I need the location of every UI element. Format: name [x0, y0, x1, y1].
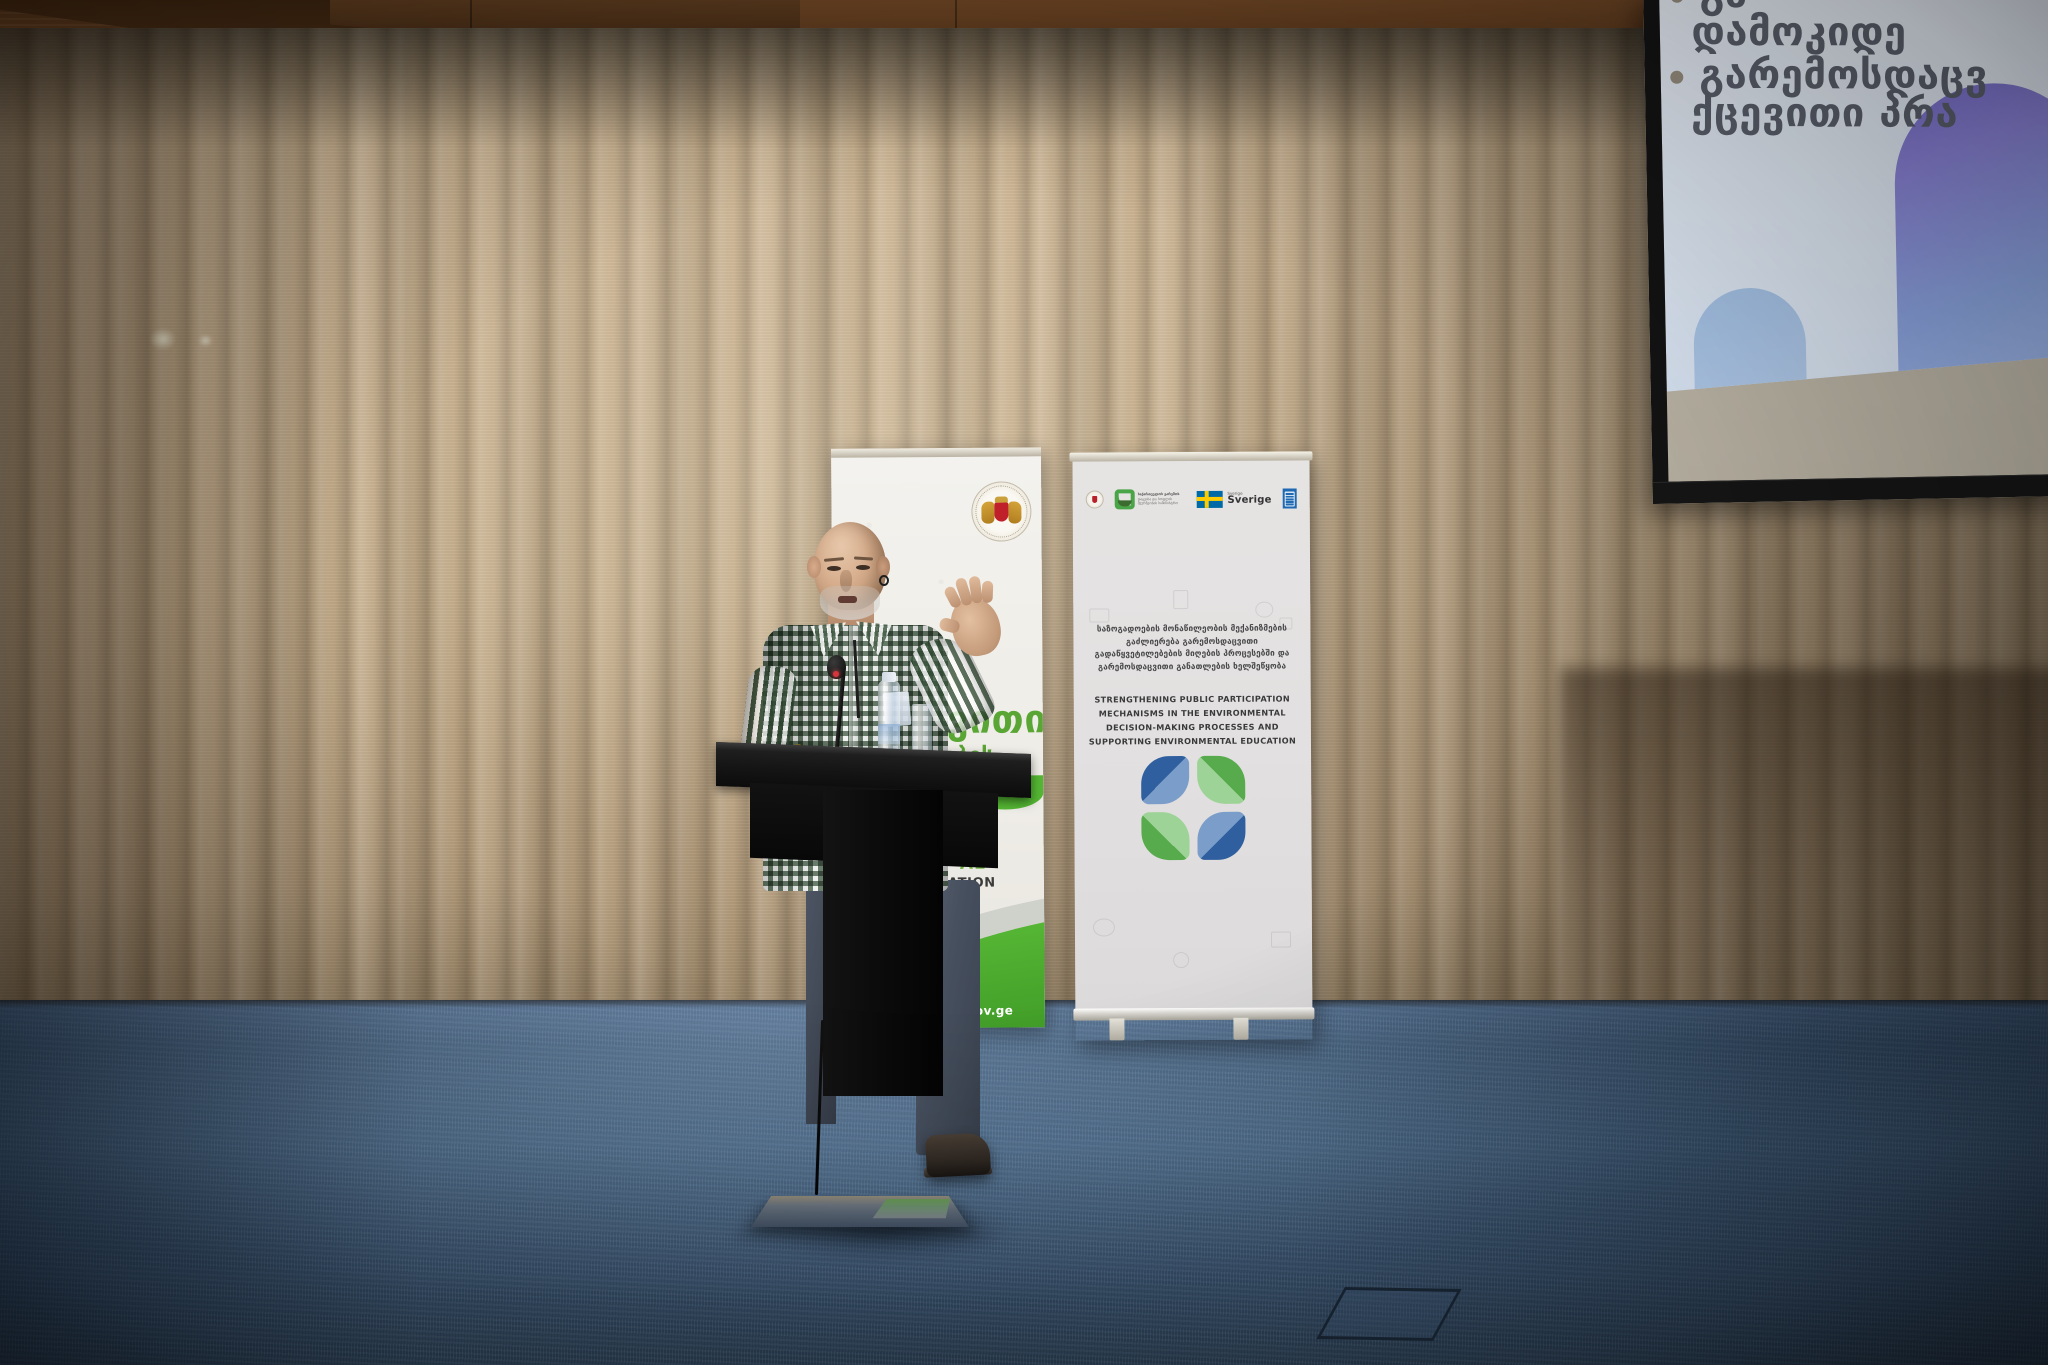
earring-icon: [879, 575, 889, 586]
drinking-glass: [912, 704, 932, 756]
slide-bullet-text: გარემოსდაცვქცევითი პრა: [1699, 56, 1988, 134]
seal-lion-right-icon: [1008, 501, 1021, 523]
slide-bullet-text: გადამოკიდე: [1699, 0, 1906, 52]
blue-patterned-carpet: [0, 1000, 2048, 1365]
base-banner-reflection: [873, 1199, 950, 1218]
presenter-ear-left: [807, 556, 821, 578]
four-petal-blue-green-logo: [1141, 756, 1246, 861]
banner-project-top-rail: [1069, 451, 1312, 461]
slide-bullet-item: გარემოსდაცვქცევითი პრა: [1670, 56, 2048, 134]
banner-logo-strip: საქართველოს გარემოს დაცვისა და სოფლის მე…: [1073, 481, 1310, 516]
slide-bullet-list: გადამოკიდე გარემოსდაცვქცევითი პრა: [1670, 0, 2048, 138]
logo-petal-top-left: [1141, 756, 1189, 804]
banner-foot-left: [1109, 1018, 1124, 1040]
water-bottle-label: [878, 724, 900, 744]
water-bottle-cap: [882, 672, 896, 682]
georgia-coat-of-arms-seal: [971, 481, 1031, 541]
ministry-leaf-icon: [1115, 489, 1135, 509]
logo-petal-top-right: [1197, 756, 1245, 804]
group-icon: [1093, 918, 1115, 936]
projected-slide: გადამოკიდე გარემოსდაცვქცევითი პრა: [1659, 0, 2048, 392]
lectern-column: [823, 790, 943, 1096]
banner-foot-right: [1233, 1018, 1248, 1040]
banner-project-rollup: საქართველოს გარემოს დაცვისა და სოფლის მე…: [1072, 451, 1312, 1040]
logo-petal-bottom-right: [1197, 812, 1245, 860]
swedish-flag-icon: [1196, 490, 1222, 507]
ministry-logo-text: საქართველოს გარემოს დაცვისა და სოფლის მე…: [1138, 492, 1186, 506]
slide-bullet-item: გადამოკიდე: [1670, 0, 2048, 53]
presenter-icon: [1271, 931, 1291, 947]
microphone-led-indicator: [833, 671, 839, 677]
sweden-flag-logo: Sverige Sverige: [1196, 490, 1271, 507]
bullet-dot-icon: [1670, 71, 1683, 84]
georgia-state-emblem-logo: [1086, 490, 1104, 508]
conference-hall-photo: გადამოკიდე გარემოსდაცვქცევითი პრა: [0, 0, 2048, 1365]
banner-project-body: საქართველოს გარემოს დაცვისა და სოფლის მე…: [1073, 459, 1313, 1012]
banner-project-title-georgian: საზოგადოების მონაწილეობის მექანიზმების გ…: [1081, 621, 1302, 673]
laptop-icon: [1089, 608, 1109, 622]
presenter-goatee: [820, 586, 880, 620]
undp-logo: [1282, 488, 1296, 508]
slide-arch-small-blue: [1693, 287, 1808, 392]
left-wall-shadow: [0, 28, 360, 1038]
seal-lion-left-icon: [981, 502, 994, 524]
banner-project-title-english: STRENGTHENING PUBLIC PARTICIPATION MECHA…: [1080, 691, 1305, 749]
finger-4: [982, 581, 994, 603]
presenter-eye-right: [856, 565, 870, 570]
presenter-shoe: [925, 1132, 991, 1177]
projection-screen: გადამოკიდე გარემოსდაცვქცევითი პრა: [1643, 0, 2048, 504]
document-icon: [1173, 590, 1188, 609]
carpet-shadow-left: [0, 1000, 420, 1365]
plant-icon: [1173, 952, 1189, 968]
logo-petal-bottom-left: [1141, 812, 1189, 860]
sweden-logo-text: Sverige Sverige: [1227, 492, 1271, 506]
presenter-mouth: [838, 596, 857, 603]
banner-ministry-top-rail: [831, 447, 1043, 457]
bullet-dot-icon: [1671, 0, 1684, 3]
seal-crown-icon: [995, 497, 1008, 503]
undp-globe-icon: [1282, 488, 1296, 508]
presenter-eye-left: [827, 566, 841, 571]
ministry-of-environment-logo: საქართველოს გარემოს დაცვისა და სოფლის მე…: [1115, 489, 1186, 509]
sparkle-icon: [1255, 602, 1273, 618]
seal-shield-icon: [994, 502, 1008, 521]
projection-surface: გადამოკიდე გარემოსდაცვქცევითი პრა: [1659, 0, 2048, 482]
